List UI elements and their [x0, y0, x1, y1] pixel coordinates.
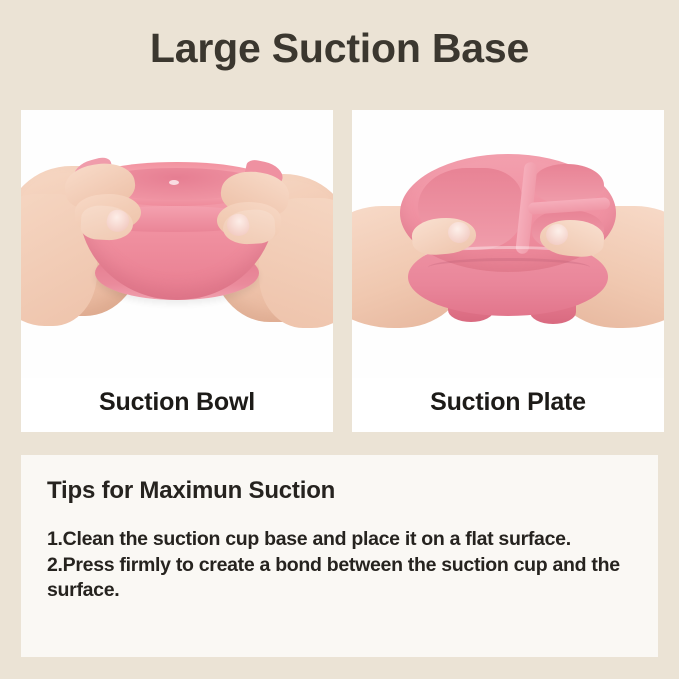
panel-caption-suction-bowl: Suction Bowl: [21, 378, 333, 432]
hands-holding-suction-plate-icon: [352, 110, 664, 378]
panel-caption-suction-plate: Suction Plate: [352, 378, 664, 432]
plate-seam-shadow: [428, 258, 590, 277]
panel-suction-bowl: Suction Bowl: [21, 110, 333, 432]
tips-item-2: 2.Press firmly to create a bond between …: [47, 553, 632, 604]
panel-suction-plate: Suction Plate: [352, 110, 664, 432]
tips-card: Tips for Maximun Suction 1.Clean the suc…: [21, 455, 658, 657]
bowl-highlight: [169, 180, 179, 185]
tips-heading: Tips for Maximun Suction: [47, 477, 632, 505]
suction-bowl-photo: [21, 110, 333, 378]
product-infographic: Large Suction Base: [0, 0, 679, 679]
hands-holding-suction-bowl-icon: [21, 110, 333, 378]
suction-plate-photo: [352, 110, 664, 378]
product-panels: Suction Bowl: [21, 110, 664, 432]
tips-item-1: 1.Clean the suction cup base and place i…: [47, 527, 632, 553]
page-title: Large Suction Base: [0, 26, 679, 71]
